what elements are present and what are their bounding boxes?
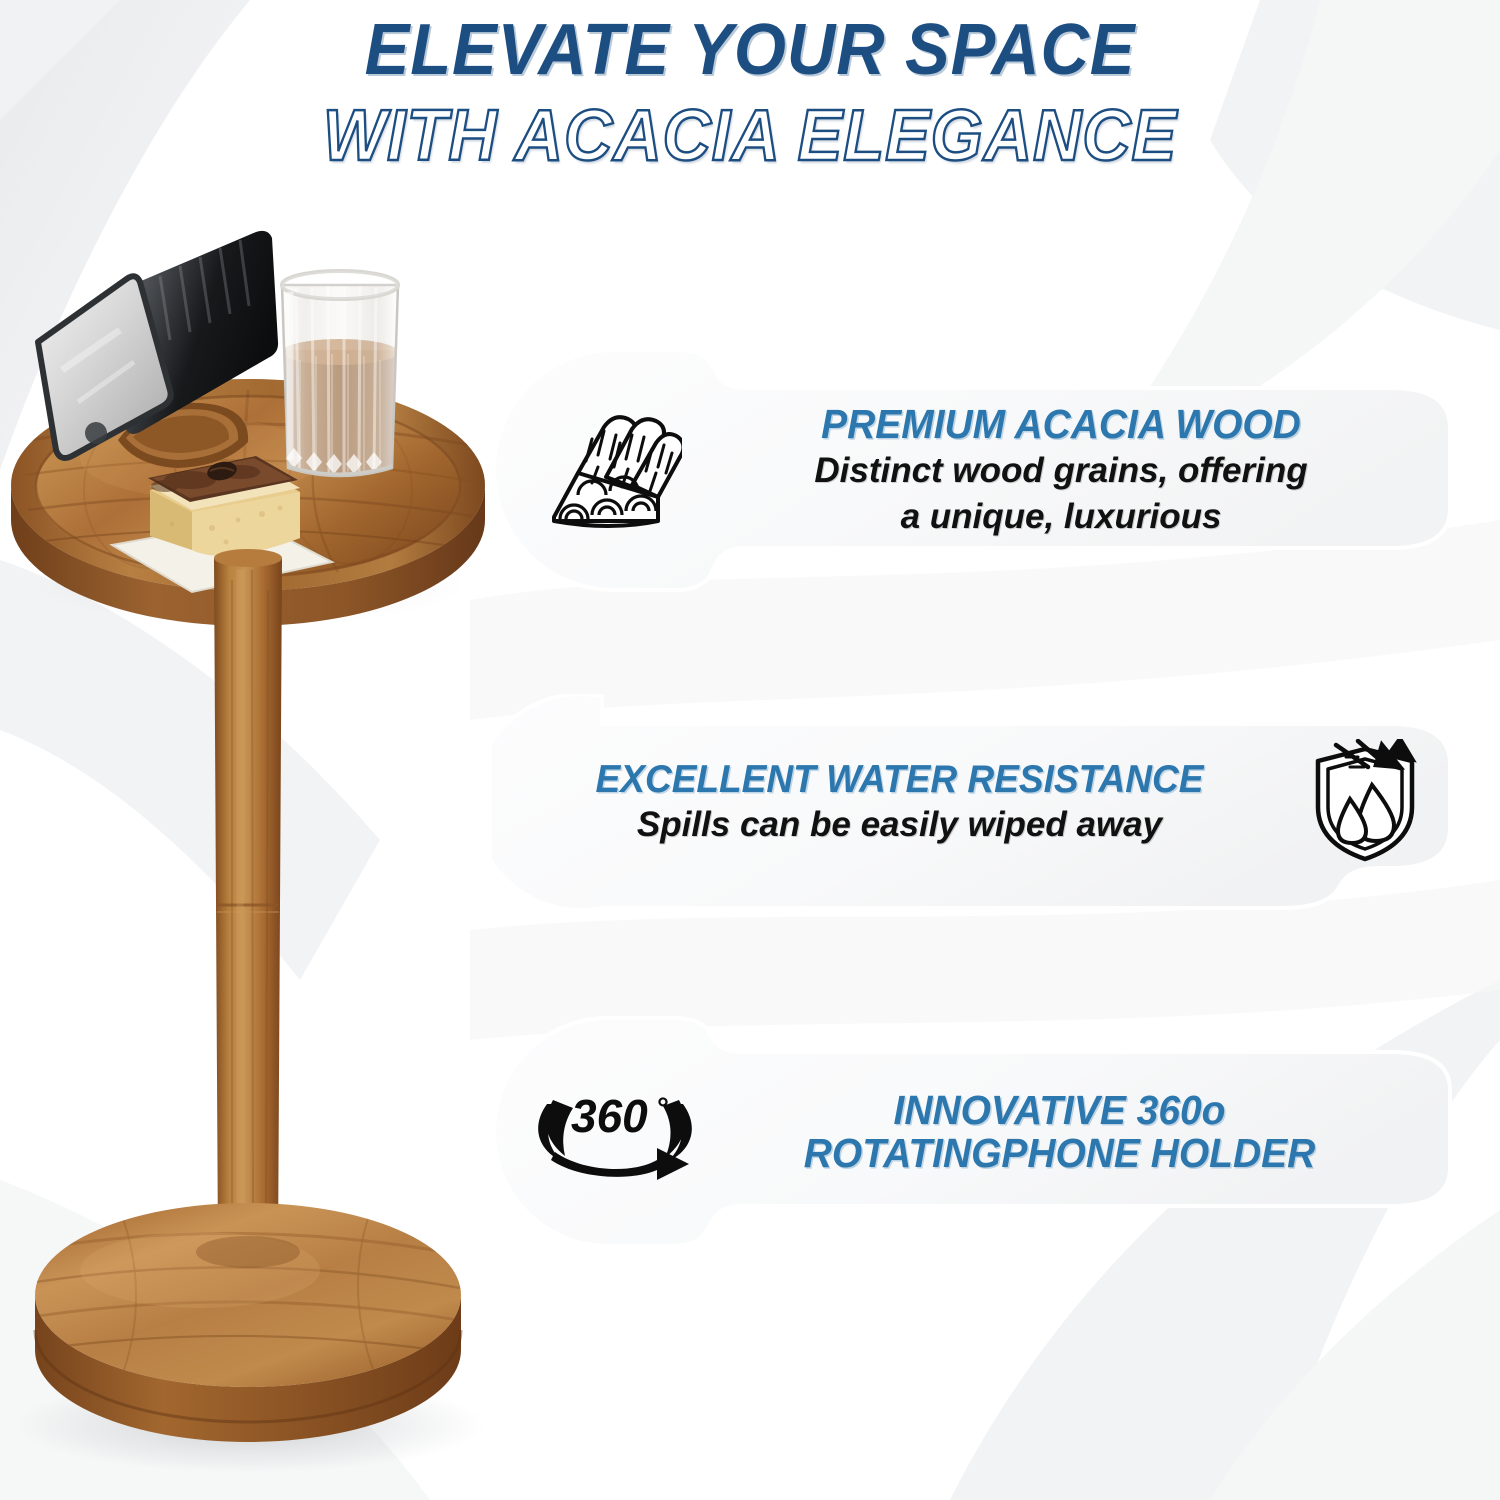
headline-block: ELEVATE YOUR SPACE WITH ACACIA ELEGANCE xyxy=(0,14,1500,172)
feature-subtitle-line-1: Spills can be easily wiped away xyxy=(532,804,1267,845)
product-image-acacia-side-table xyxy=(0,190,530,1500)
feature-card-premium-acacia-wood[interactable]: PREMIUM ACACIA WOOD Distinct wood grains… xyxy=(492,348,1452,592)
stacked-wood-logs-icon xyxy=(492,409,692,531)
feature-title-line-2: ROTATINGPHONE HOLDER xyxy=(725,1132,1395,1175)
rotation-badge-value: 360 xyxy=(571,1090,648,1142)
rotation-360-icon: 360 ° xyxy=(492,1080,707,1184)
feature-subtitle-line-1: Distinct wood grains, offering xyxy=(700,450,1422,491)
feature-card-water-resistance[interactable]: EXCELLENT WATER RESISTANCE Spills can be… xyxy=(492,694,1452,910)
feature-title-line-1: INNOVATIVE 360o xyxy=(725,1089,1395,1132)
feature-title: EXCELLENT WATER RESISTANCE xyxy=(550,759,1248,800)
headline-line-1: ELEVATE YOUR SPACE xyxy=(53,14,1448,86)
feature-title: PREMIUM ACACIA WOOD xyxy=(718,403,1404,446)
feature-card-360-rotating-phone-holder[interactable]: 360 ° INNOVATIVE 360o ROTATINGPHONE HOLD… xyxy=(492,1016,1452,1248)
water-resistance-shield-icon xyxy=(1277,739,1452,865)
rotation-badge-degree: ° xyxy=(657,1092,669,1125)
headline-line-2: WITH ACACIA ELEGANCE xyxy=(53,100,1448,172)
feature-subtitle-line-2: a unique, luxurious xyxy=(700,496,1422,537)
